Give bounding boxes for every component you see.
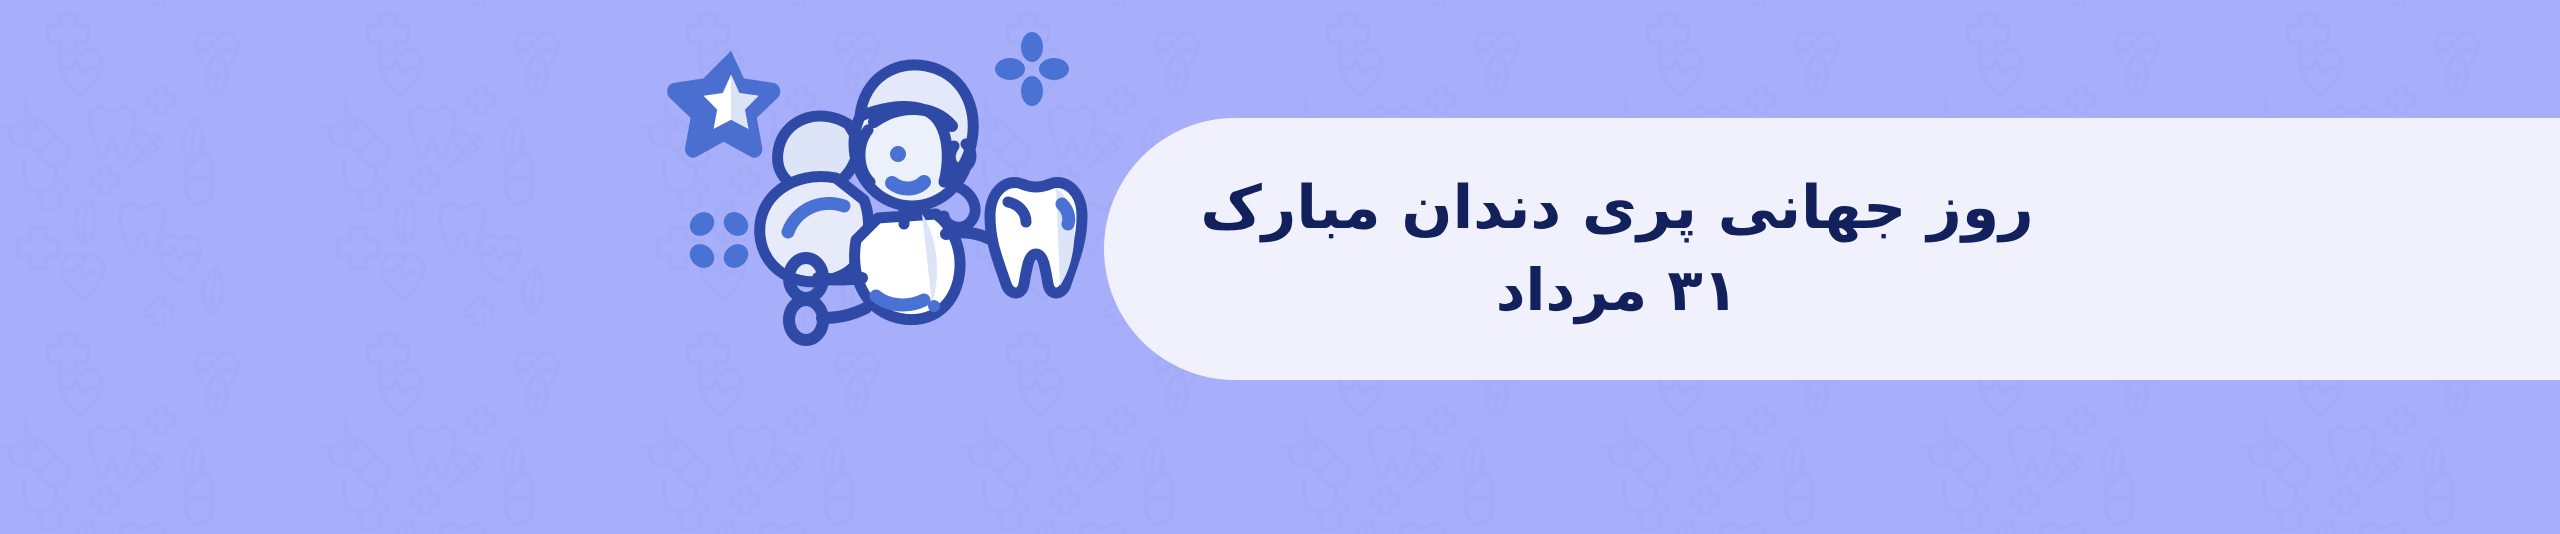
star-icon [667, 51, 780, 158]
fairy-character [760, 65, 998, 340]
message-card-text: روز جهانی پری دندان مبارک ۳۱ مرداد [1104, 118, 2560, 380]
tooth-fairy-illustration [660, 28, 1100, 328]
tooth-fairy-banner: روز جهانی پری دندان مبارک ۳۱ مرداد [0, 0, 2560, 534]
message-card: روز جهانی پری دندان مبارک ۳۱ مرداد [1104, 118, 2560, 380]
sparkle-icon-left [685, 207, 753, 273]
headline-text: روز جهانی پری دندان مبارک [1200, 169, 2033, 248]
date-text: ۳۱ مرداد [1496, 252, 1738, 329]
sparkle-icon-top [995, 32, 1069, 106]
tooth-icon [990, 182, 1082, 293]
